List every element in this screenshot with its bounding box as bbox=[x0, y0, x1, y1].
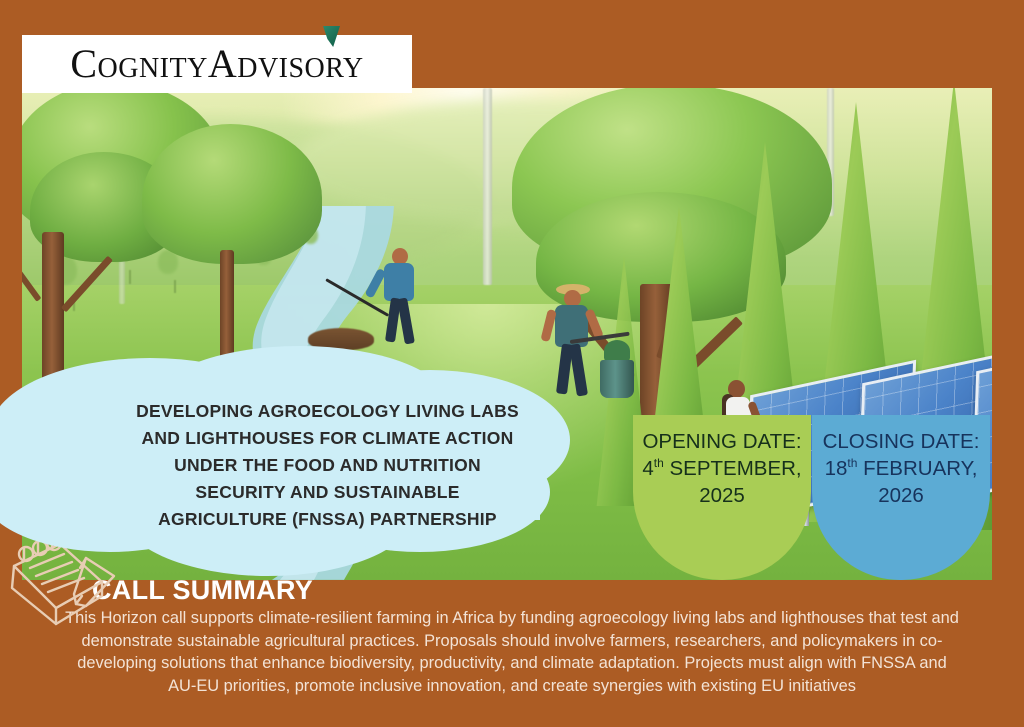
call-summary-body: This Horizon call supports climate-resil… bbox=[62, 607, 962, 697]
opening-date-value: 4th SEPTEMBER, bbox=[633, 455, 811, 482]
call-title: DEVELOPING AGROECOLOGY LIVING LABS AND L… bbox=[95, 398, 560, 533]
closing-date-ordinal: th bbox=[847, 456, 857, 470]
light-beam bbox=[483, 88, 492, 285]
brand-logo[interactable]: CognityAdvisory bbox=[22, 35, 412, 93]
opening-date-year: 2025 bbox=[633, 482, 811, 509]
poster-canvas: CognityAdvisory DEVELOPING AGROECOLOGY L… bbox=[0, 0, 1024, 727]
potted-plant bbox=[594, 340, 640, 406]
person-torso bbox=[384, 263, 414, 301]
tree-canopy bbox=[142, 124, 322, 264]
plant-foliage bbox=[604, 340, 630, 362]
closing-date-label: CLOSING DATE: bbox=[812, 428, 990, 455]
brand-logo-text: CognityAdvisory bbox=[70, 44, 363, 84]
opening-date-ordinal: th bbox=[654, 456, 664, 470]
tree-branch bbox=[61, 256, 113, 313]
opening-date-label: OPENING DATE: bbox=[633, 428, 811, 455]
closing-date-value: 18th FEBRUARY, bbox=[812, 455, 990, 482]
plant-pot bbox=[600, 360, 634, 398]
person-leg bbox=[397, 297, 415, 344]
call-summary-section: CALL SUMMARY This Horizon call supports … bbox=[0, 566, 1024, 727]
tree-branch bbox=[22, 251, 41, 301]
closing-date-year: 2026 bbox=[812, 482, 990, 509]
title-cloud-bubble: DEVELOPING AGROECOLOGY LIVING LABS AND L… bbox=[0, 340, 600, 590]
